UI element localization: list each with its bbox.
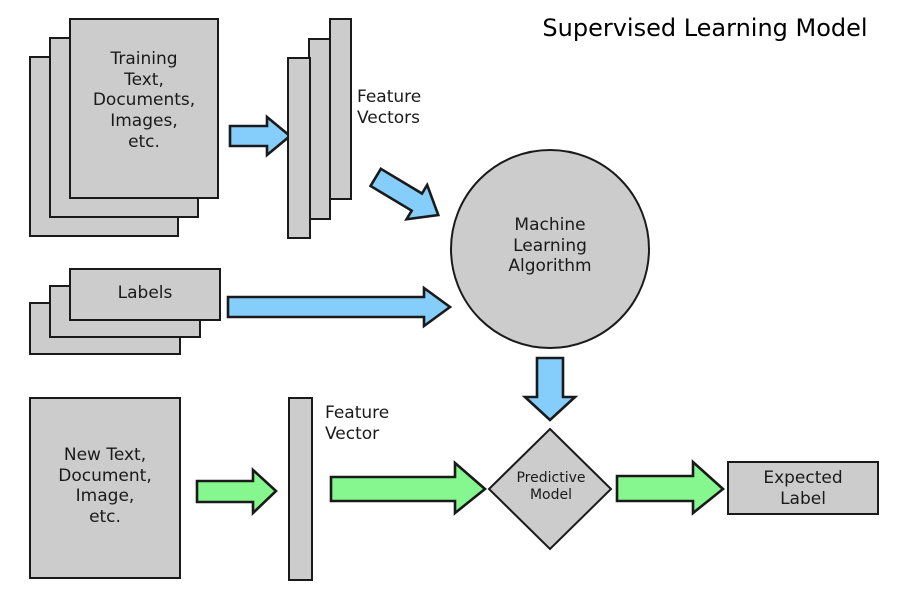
- arrow-new-document-to-feature-vector-icon[interactable]: [197, 470, 276, 513]
- arrow-labels-to-algorithm-icon[interactable]: [228, 288, 450, 326]
- feature-vectors-stack[interactable]: [288, 19, 351, 238]
- new-document-box[interactable]: [30, 398, 180, 578]
- labels-card-front: [70, 269, 220, 320]
- training-documents-stack[interactable]: [30, 19, 218, 236]
- expected-label-box[interactable]: [728, 462, 878, 514]
- feature-vector-bar-middle: [309, 39, 330, 219]
- machine-learning-algorithm-circle[interactable]: [451, 150, 649, 348]
- feature-vector-bar-back: [330, 19, 351, 199]
- arrow-training-to-features-icon[interactable]: [230, 117, 290, 155]
- arrow-features-to-algorithm-icon[interactable]: [365, 160, 448, 232]
- feature-vector-bar-front: [288, 58, 310, 238]
- predictive-model-diamond[interactable]: [489, 429, 611, 549]
- diagram-shapes-layer: [0, 0, 900, 600]
- arrow-predictive-model-to-expected-label-icon[interactable]: [617, 462, 723, 513]
- feature-vector-bar[interactable]: [289, 398, 312, 580]
- arrow-feature-vector-to-predictive-model-icon[interactable]: [331, 463, 485, 513]
- diagram-canvas: Supervised Learning Model Training Text,…: [0, 0, 900, 600]
- arrow-algorithm-to-predictive-model-icon[interactable]: [525, 358, 575, 420]
- labels-stack[interactable]: [30, 269, 220, 354]
- training-document-card-front: [70, 19, 218, 198]
